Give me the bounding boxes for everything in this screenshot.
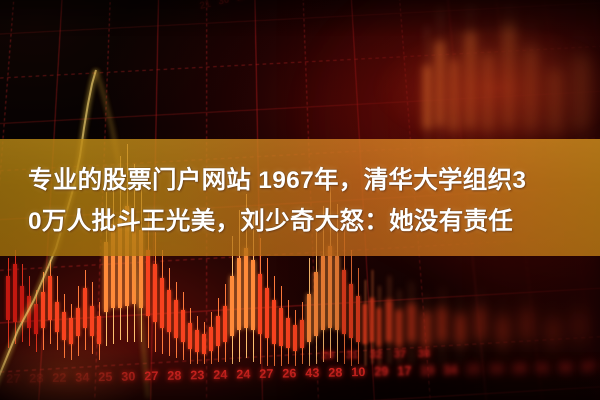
axis-top-ticks: 2130272825303127 [195, 0, 346, 13]
axis-tick: 10 [347, 365, 370, 379]
axis-tick: 27 [255, 367, 278, 381]
axis-mid-ticks: 2931323738 [316, 348, 436, 362]
axis-tick: 25 [94, 370, 117, 384]
axis-tick: 32 [554, 361, 577, 375]
axis-tick: 19 [416, 364, 439, 378]
glow-overlay [0, 0, 600, 400]
axis-tick: 21 [195, 0, 216, 13]
axis-tick: 24 [232, 367, 255, 381]
depth-of-field-haze [0, 0, 600, 400]
axis-tick: 34 [485, 362, 508, 376]
caption-band [0, 139, 600, 256]
axis-tick: 27 [232, 0, 253, 4]
right-edge-falloff [0, 0, 600, 400]
axis-tick: 22 [48, 371, 71, 385]
banner-image: 2130272825303127 2931323738 272822342530… [0, 0, 600, 400]
headline-line-2: 0万人批斗王光美，刘少奇大怒：她没有责任 [28, 201, 580, 242]
chart-background [0, 0, 600, 400]
axis-tick: 31 [340, 349, 364, 361]
axis-tick: 30 [213, 0, 234, 9]
axis-tick: 28 [163, 368, 186, 382]
axis-tick: 34 [439, 363, 462, 377]
candlestick-series [0, 0, 600, 400]
chart-grid [0, 0, 600, 400]
axis-tick: 23 [186, 368, 209, 382]
axis-tick: 28 [508, 362, 531, 376]
axis-tick: 31 [531, 361, 554, 375]
axis-tick: 25 [462, 363, 485, 377]
axis-tick: 26 [278, 366, 301, 380]
trend-line [0, 0, 600, 400]
axis-tick: 43 [301, 366, 324, 380]
headline-line-1: 专业的股票门户网站 1967年，清华大学组织3 [28, 160, 580, 201]
axis-tick: 29 [316, 350, 340, 362]
axis-tick: 27 [140, 369, 163, 383]
axis-tick: 37 [577, 361, 600, 375]
axis-tick: 17 [393, 364, 416, 378]
axis-tick: 27 [2, 372, 25, 386]
axis-tick: 28 [25, 371, 48, 385]
axis-tick: 29 [370, 364, 393, 378]
headline-text: 专业的股票门户网站 1967年，清华大学组织3 0万人批斗王光美，刘少奇大怒：她… [28, 160, 580, 242]
axis-bottom-ticks: 2728223425302728232424272643281029171934… [2, 359, 600, 386]
axis-tick: 34 [71, 370, 94, 384]
axis-tick: 37 [388, 348, 412, 360]
vignette-overlay [0, 0, 600, 400]
axis-tick: 38 [412, 348, 436, 360]
axis-tick: 24 [209, 368, 232, 382]
axis-tick: 28 [324, 365, 347, 379]
axis-tick: 32 [364, 349, 388, 361]
axis-tick: 30 [117, 369, 140, 383]
